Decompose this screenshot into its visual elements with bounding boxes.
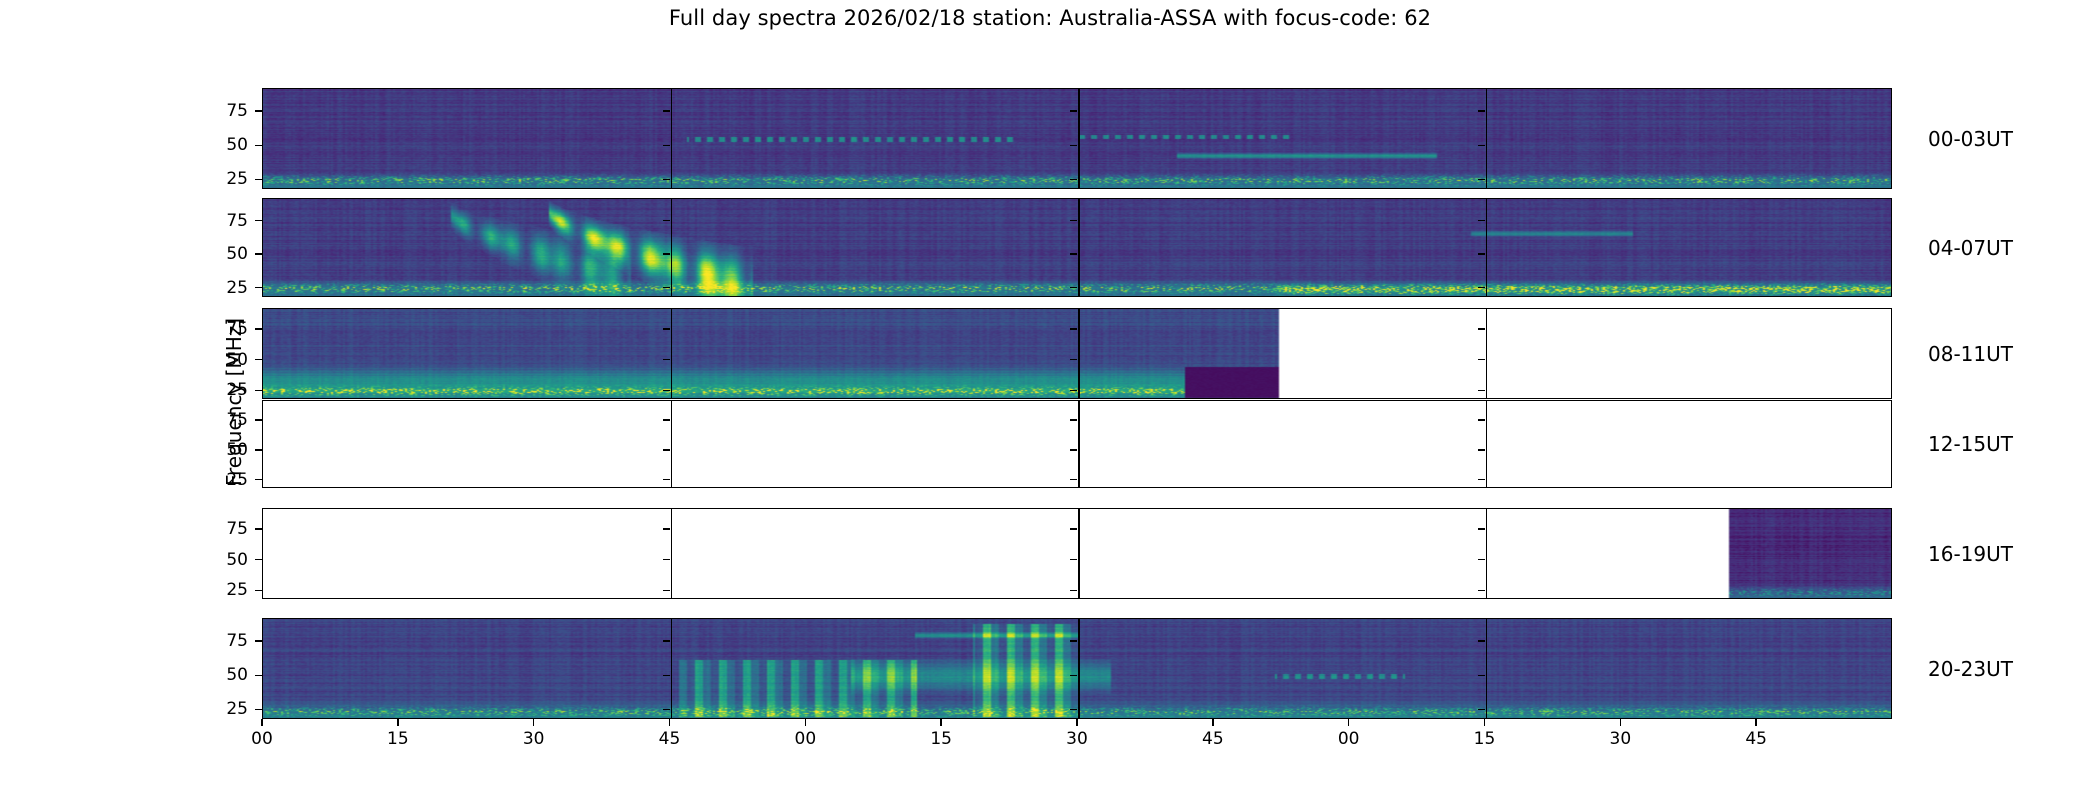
y-axis-tick xyxy=(255,253,262,255)
y-axis-inner-tick xyxy=(663,640,670,642)
y-axis-inner-tick xyxy=(1070,709,1077,711)
row-time-label: 00-03UT xyxy=(1928,127,2013,151)
y-axis-inner-tick xyxy=(1070,328,1077,330)
spectrogram-row: 25507516-19UT xyxy=(0,508,2100,599)
y-axis-inner-tick xyxy=(663,709,670,711)
subpanel-separator xyxy=(1486,89,1488,188)
y-axis-inner-tick xyxy=(663,528,670,530)
y-axis-tick xyxy=(255,449,262,451)
row-time-label: 04-07UT xyxy=(1928,236,2013,260)
x-axis-tick xyxy=(1212,719,1214,726)
subpanel-separator xyxy=(1486,199,1488,296)
y-axis-inner-tick xyxy=(663,359,670,361)
y-axis-inner-tick xyxy=(1070,179,1077,181)
y-axis-inner-tick xyxy=(1070,359,1077,361)
y-axis-tick-label: 75 xyxy=(208,631,248,651)
spectrogram-row: 25507508-11UT xyxy=(0,308,2100,399)
y-axis-inner-tick xyxy=(1070,145,1077,147)
y-axis-inner-tick xyxy=(1070,390,1077,392)
y-axis-tick-label: 50 xyxy=(208,135,248,155)
y-axis-tick xyxy=(255,287,262,289)
y-axis-tick-label: 75 xyxy=(208,519,248,539)
subpanel-separator xyxy=(1486,309,1488,398)
y-axis-tick xyxy=(255,328,262,330)
y-axis-tick-label: 75 xyxy=(208,101,248,121)
x-axis-tick-label: 15 xyxy=(930,729,952,749)
y-axis-inner-tick xyxy=(663,220,670,222)
y-axis-tick-label: 75 xyxy=(208,319,248,339)
y-axis-tick xyxy=(255,145,262,147)
y-axis-inner-tick xyxy=(1478,145,1485,147)
spectrogram-panel[interactable] xyxy=(262,618,1892,719)
y-axis-inner-tick xyxy=(1478,287,1485,289)
y-axis-inner-tick xyxy=(1478,179,1485,181)
x-axis-tick xyxy=(533,719,535,726)
x-axis-tick-label: 15 xyxy=(1474,729,1496,749)
y-axis-tick-label: 50 xyxy=(208,244,248,264)
y-axis-tick-label: 25 xyxy=(208,580,248,600)
y-axis-tick-label: 50 xyxy=(208,350,248,370)
spectrogram-row: 25507500-03UT xyxy=(0,88,2100,189)
y-axis-inner-tick xyxy=(663,145,670,147)
x-axis-tick-label: 45 xyxy=(1202,729,1224,749)
spectrogram-figure: Full day spectra 2026/02/18 station: Aus… xyxy=(0,0,2100,800)
y-axis-inner-tick xyxy=(1478,675,1485,677)
y-axis-inner-tick xyxy=(1070,419,1077,421)
y-axis-inner-tick xyxy=(1070,287,1077,289)
y-axis-tick xyxy=(255,675,262,677)
subpanel-separator xyxy=(1078,509,1080,598)
y-axis-tick xyxy=(255,709,262,711)
spectrogram-panel[interactable] xyxy=(262,198,1892,297)
x-axis-tick xyxy=(1484,719,1486,726)
x-axis-tick xyxy=(1076,719,1078,726)
y-axis-tick xyxy=(255,179,262,181)
y-axis-inner-tick xyxy=(663,479,670,481)
x-axis-tick xyxy=(397,719,399,726)
y-axis-tick-label: 75 xyxy=(208,211,248,231)
y-axis-inner-tick xyxy=(663,328,670,330)
spectrogram-panel[interactable] xyxy=(262,400,1892,488)
x-axis-tick xyxy=(940,719,942,726)
row-time-label: 08-11UT xyxy=(1928,342,2013,366)
subpanel-separator xyxy=(1078,401,1080,487)
y-axis-inner-tick xyxy=(1478,253,1485,255)
y-axis-inner-tick xyxy=(663,675,670,677)
y-axis-inner-tick xyxy=(1070,559,1077,561)
spectrogram-row: 25507520-23UT xyxy=(0,618,2100,719)
y-axis-tick-label: 50 xyxy=(208,440,248,460)
y-axis-tick xyxy=(255,419,262,421)
y-axis-tick xyxy=(255,359,262,361)
x-axis-tick xyxy=(1620,719,1622,726)
y-axis-tick-label: 25 xyxy=(208,278,248,298)
y-axis-inner-tick xyxy=(1070,110,1077,112)
subpanel-separator xyxy=(1486,619,1488,718)
y-axis-inner-tick xyxy=(1070,253,1077,255)
y-axis-inner-tick xyxy=(1070,675,1077,677)
y-axis-tick-label: 25 xyxy=(208,470,248,490)
y-axis-tick xyxy=(255,640,262,642)
x-axis-tick-label: 45 xyxy=(1745,729,1767,749)
y-axis-inner-tick xyxy=(1478,220,1485,222)
x-axis-tick-label: 00 xyxy=(795,729,817,749)
subpanel-separator xyxy=(1486,401,1488,487)
x-axis-tick-label: 15 xyxy=(387,729,409,749)
y-axis-tick xyxy=(255,390,262,392)
row-time-label: 12-15UT xyxy=(1928,432,2013,456)
subpanel-separator xyxy=(671,401,673,487)
y-axis-tick-label: 50 xyxy=(208,665,248,685)
y-axis-tick xyxy=(255,559,262,561)
y-axis-tick-label: 50 xyxy=(208,550,248,570)
spectrogram-row: 25507512-15UT xyxy=(0,400,2100,488)
x-axis-tick-label: 30 xyxy=(523,729,545,749)
y-axis-inner-tick xyxy=(663,419,670,421)
y-axis-inner-tick xyxy=(1478,390,1485,392)
row-time-label: 20-23UT xyxy=(1928,657,2013,681)
y-axis-inner-tick xyxy=(1070,640,1077,642)
y-axis-inner-tick xyxy=(1478,709,1485,711)
subpanel-separator xyxy=(671,509,673,598)
subpanel-separator xyxy=(671,199,673,296)
y-axis-inner-tick xyxy=(663,287,670,289)
subpanel-separator xyxy=(1078,89,1080,188)
y-axis-inner-tick xyxy=(1478,479,1485,481)
x-axis-tick xyxy=(805,719,807,726)
y-axis-inner-tick xyxy=(1478,449,1485,451)
subpanel-separator xyxy=(671,89,673,188)
y-axis-inner-tick xyxy=(663,390,670,392)
y-axis-tick-label: 25 xyxy=(208,699,248,719)
y-axis-inner-tick xyxy=(663,449,670,451)
y-axis-tick xyxy=(255,590,262,592)
x-axis-tick-label: 00 xyxy=(1338,729,1360,749)
y-axis-inner-tick xyxy=(1070,528,1077,530)
y-axis-inner-tick xyxy=(663,253,670,255)
spectrogram-panel[interactable] xyxy=(262,88,1892,189)
y-axis-tick xyxy=(255,528,262,530)
y-axis-inner-tick xyxy=(1070,479,1077,481)
subpanel-separator xyxy=(671,309,673,398)
y-axis-inner-tick xyxy=(1478,110,1485,112)
x-axis-tick xyxy=(261,719,263,726)
y-axis-inner-tick xyxy=(1478,328,1485,330)
y-axis-inner-tick xyxy=(1070,220,1077,222)
subpanel-separator xyxy=(1078,619,1080,718)
y-axis-tick-label: 25 xyxy=(208,380,248,400)
y-axis-tick xyxy=(255,220,262,222)
subpanel-separator xyxy=(671,619,673,718)
subpanel-separator xyxy=(1078,309,1080,398)
y-axis-inner-tick xyxy=(663,179,670,181)
x-axis-tick xyxy=(669,719,671,726)
y-axis-tick-label: 25 xyxy=(208,169,248,189)
x-axis-tick-label: 30 xyxy=(1610,729,1632,749)
y-axis-inner-tick xyxy=(1070,449,1077,451)
figure-title: Full day spectra 2026/02/18 station: Aus… xyxy=(0,6,2100,30)
y-axis-inner-tick xyxy=(663,559,670,561)
x-axis-tick xyxy=(1755,719,1757,726)
subpanel-separator xyxy=(1078,199,1080,296)
x-axis-tick-label: 45 xyxy=(659,729,681,749)
y-axis-inner-tick xyxy=(1478,359,1485,361)
subpanel-separator xyxy=(1486,509,1488,598)
y-axis-inner-tick xyxy=(1478,640,1485,642)
spectrogram-panel[interactable] xyxy=(262,508,1892,599)
y-axis-inner-tick xyxy=(1070,590,1077,592)
x-axis-tick-label: 30 xyxy=(1066,729,1088,749)
y-axis-tick xyxy=(255,110,262,112)
x-axis-tick-label: 00 xyxy=(251,729,273,749)
y-axis-inner-tick xyxy=(1478,528,1485,530)
spectrogram-panel[interactable] xyxy=(262,308,1892,399)
y-axis-inner-tick xyxy=(1478,419,1485,421)
y-axis-inner-tick xyxy=(1478,559,1485,561)
y-axis-inner-tick xyxy=(663,590,670,592)
y-axis-tick xyxy=(255,479,262,481)
row-time-label: 16-19UT xyxy=(1928,542,2013,566)
spectrogram-row: 25507504-07UT xyxy=(0,198,2100,297)
y-axis-inner-tick xyxy=(1478,590,1485,592)
y-axis-tick-label: 75 xyxy=(208,410,248,430)
y-axis-inner-tick xyxy=(663,110,670,112)
x-axis-tick xyxy=(1348,719,1350,726)
